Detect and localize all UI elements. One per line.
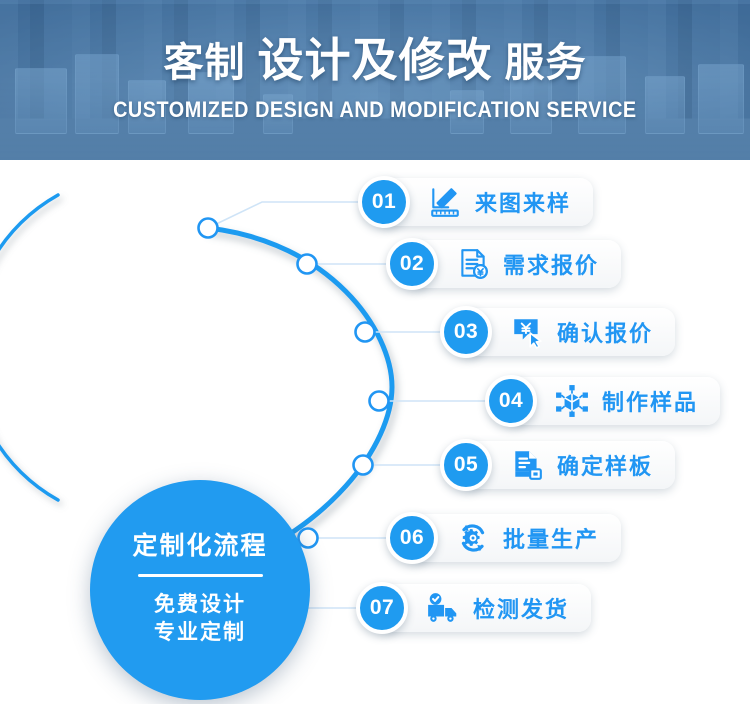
gear-cycle-icon xyxy=(456,521,490,555)
banner-title-part-1: 客制 xyxy=(164,43,246,83)
hub-subtitle-line-2: 专业定制 xyxy=(154,619,246,646)
banner-title-part-3: 服务 xyxy=(505,43,587,83)
step-pill-03[interactable]: 确认报价 xyxy=(462,308,675,356)
process-flow-area: 定制化流程 免费设计 专业定制 来图来样 xyxy=(0,160,750,704)
step-badge-02[interactable]: 02 xyxy=(386,238,438,290)
step-badge-04[interactable]: 04 xyxy=(485,375,537,427)
left-decorative-arc xyxy=(0,195,58,500)
step-pill-01[interactable]: 来图来样 xyxy=(380,178,593,226)
banner-title-part-2: 设计及修改 xyxy=(258,37,493,83)
hub-subtitle: 免费设计 专业定制 xyxy=(154,591,246,646)
hub-title: 定制化流程 xyxy=(132,534,267,559)
step-label-04: 制作样品 xyxy=(602,385,698,417)
step-badge-07[interactable]: 07 xyxy=(356,582,408,634)
customization-process-infographic: 客制 设计及修改 服务 CUSTOMIZED DESIGN AND MODIFI… xyxy=(0,0,750,704)
document-yen-icon xyxy=(456,247,490,281)
yen-cursor-icon xyxy=(510,315,544,349)
document-stamp-icon xyxy=(510,448,544,482)
drawing-pencil-icon xyxy=(428,185,462,219)
hub-subtitle-line-1: 免费设计 xyxy=(154,591,246,618)
step-pill-02[interactable]: 需求报价 xyxy=(408,240,621,288)
step-badge-03[interactable]: 03 xyxy=(440,306,492,358)
step-label-07: 检测发货 xyxy=(473,592,569,624)
step-label-05: 确定样板 xyxy=(557,449,653,481)
center-hub-circle: 定制化流程 免费设计 专业定制 xyxy=(90,480,310,700)
step-badge-01[interactable]: 01 xyxy=(358,176,410,228)
step-badge-06[interactable]: 06 xyxy=(386,512,438,564)
step-pill-05[interactable]: 确定样板 xyxy=(462,441,675,489)
step-label-01: 来图来样 xyxy=(475,186,571,218)
step-label-03: 确认报价 xyxy=(557,316,653,348)
banner-text-block: 客制 设计及修改 服务 CUSTOMIZED DESIGN AND MODIFI… xyxy=(0,0,750,160)
step-badge-05[interactable]: 05 xyxy=(440,439,492,491)
cube-nodes-icon xyxy=(555,384,589,418)
hub-divider xyxy=(138,574,263,577)
step-label-02: 需求报价 xyxy=(503,248,599,280)
banner-subtitle: CUSTOMIZED DESIGN AND MODIFICATION SERVI… xyxy=(113,97,637,123)
truck-check-icon xyxy=(426,591,460,625)
banner-title: 客制 设计及修改 服务 xyxy=(164,37,587,83)
header-banner: 客制 设计及修改 服务 CUSTOMIZED DESIGN AND MODIFI… xyxy=(0,0,750,160)
step-pill-07[interactable]: 检测发货 xyxy=(378,584,591,632)
step-label-06: 批量生产 xyxy=(503,522,599,554)
step-pill-06[interactable]: 批量生产 xyxy=(408,514,621,562)
step-pill-04[interactable]: 制作样品 xyxy=(507,377,720,425)
